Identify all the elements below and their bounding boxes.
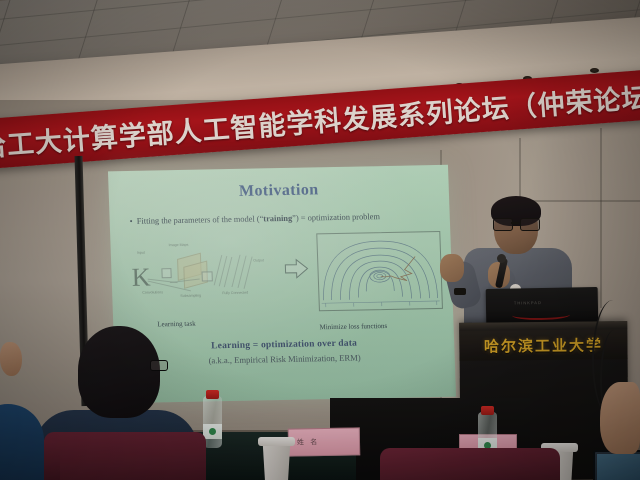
bullet-marker: • bbox=[130, 217, 135, 228]
cnn-kernel-box bbox=[202, 271, 213, 281]
bottle-cap-2 bbox=[481, 406, 494, 415]
speaker-wristwatch bbox=[454, 288, 466, 295]
caption-minimize-loss: Minimize loss functions bbox=[319, 322, 387, 331]
bottle-label bbox=[203, 424, 222, 439]
cnn-label-image-maps: Image Maps bbox=[169, 243, 189, 247]
speaker-left-hand bbox=[440, 254, 464, 282]
name-card: 姓 名 bbox=[288, 427, 360, 456]
tablet-screen bbox=[597, 454, 640, 480]
microphone-head bbox=[497, 254, 506, 263]
laptop-red-accent bbox=[512, 310, 570, 321]
speaker-glasses bbox=[493, 218, 539, 229]
coffee-cup-lid bbox=[258, 437, 295, 446]
name-card-ink: 姓 名 bbox=[297, 437, 319, 447]
bullet-text-bold: training bbox=[263, 214, 292, 224]
audience-member-1-head bbox=[78, 326, 160, 418]
coffee-cup bbox=[260, 442, 293, 480]
tablet-device[interactable] bbox=[593, 450, 640, 480]
cnn-label-convolutions: Convolutions bbox=[142, 290, 163, 294]
right-arrow-icon bbox=[283, 257, 310, 279]
bullet-text-post: ”) = optimization problem bbox=[292, 212, 380, 223]
downlight bbox=[590, 68, 599, 73]
lecture-photo-scene: 哈工大计算学部人工智能学科发展系列论坛（仲荣论坛） Motivation • F… bbox=[0, 0, 640, 480]
bottle-cap bbox=[206, 390, 219, 399]
slide-bullet-item: • Fitting the parameters of the model (“… bbox=[130, 211, 435, 227]
podium-university-text: 哈尔滨工业大学 bbox=[484, 334, 603, 356]
foreground-hand-right bbox=[600, 382, 640, 454]
cnn-label-input: Input bbox=[137, 251, 145, 255]
wall-seam bbox=[600, 128, 602, 308]
audience-member-1-glasses bbox=[150, 360, 168, 371]
slide-diagram-row: Input Image Maps K Convolutions Subsampl… bbox=[118, 229, 447, 317]
cnn-architecture-diagram: Input Image Maps K Convolutions Subsampl… bbox=[124, 236, 277, 313]
loss-contour-plot bbox=[316, 231, 443, 311]
cnn-label-output: Output bbox=[253, 258, 264, 262]
slide-title: Motivation bbox=[108, 179, 449, 204]
chair-back-1 bbox=[44, 432, 206, 480]
cnn-label-fully-connected: Fully Connected bbox=[222, 291, 248, 295]
bullet-text-pre: Fitting the parameters of the model (“ bbox=[137, 214, 264, 225]
bottle-label-logo bbox=[209, 428, 216, 435]
laptop-logo-text: THINKPAD bbox=[514, 300, 542, 305]
cnn-label-subsampling: Subsampling bbox=[180, 294, 201, 298]
audience-member-2-hand bbox=[0, 342, 22, 376]
chair-back-2 bbox=[380, 448, 560, 480]
caption-learning-task: Learning task bbox=[157, 320, 196, 329]
cnn-kernel-box bbox=[161, 268, 171, 278]
